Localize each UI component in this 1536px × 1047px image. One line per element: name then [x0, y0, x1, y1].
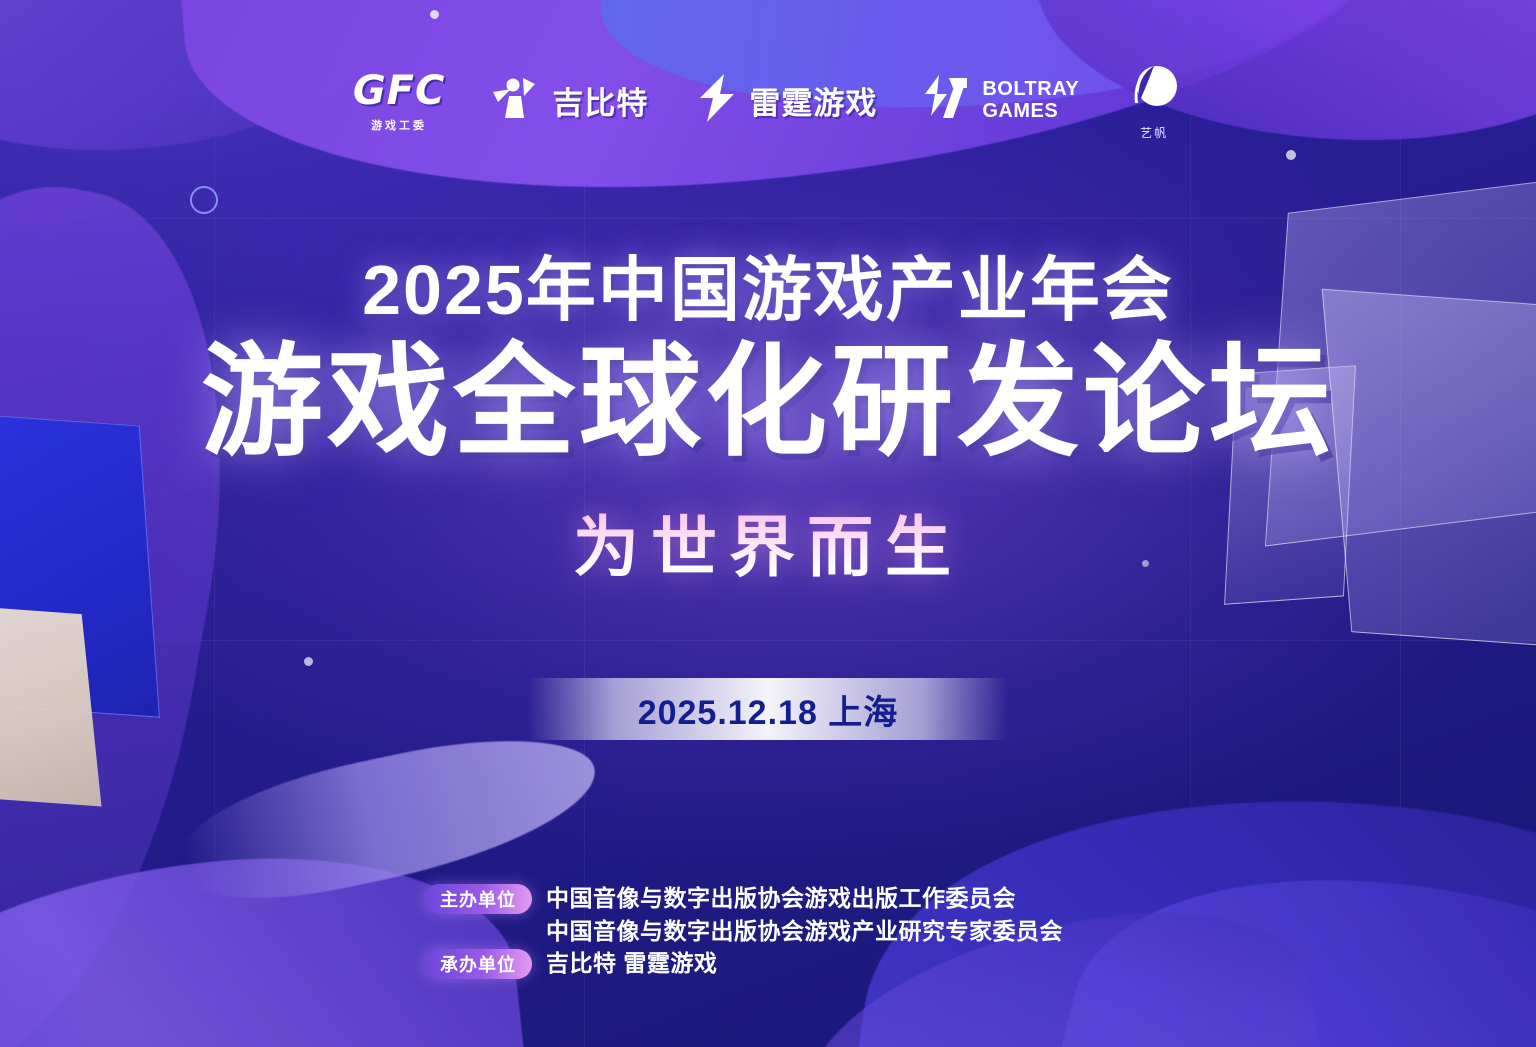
boltray-line-1: BOLTRAY	[982, 79, 1079, 100]
headline: 游戏全球化研发论坛	[0, 339, 1536, 466]
logo-yifan: 艺帆	[1125, 60, 1183, 141]
logo-gfc: GFC 游戏工委	[353, 68, 446, 133]
yifan-logo-label: 艺帆	[1140, 124, 1168, 141]
dot-icon	[304, 657, 313, 666]
lightning-bolt-icon	[694, 72, 740, 129]
logo-gbits: 吉比特	[491, 72, 648, 129]
organizer-footer: 主办单位 中国音像与数字出版协会游戏出版工作委员会 中国音像与数字出版协会游戏产…	[424, 884, 1063, 983]
boltray-logo-label: BOLTRAY GAMES	[982, 79, 1079, 121]
host-row: 主办单位 中国音像与数字出版协会游戏出版工作委员会 中国音像与数字出版协会游戏产…	[424, 884, 1063, 945]
gfc-logo-subtitle: 游戏工委	[371, 117, 427, 133]
logo-boltray: BOLTRAY GAMES	[923, 72, 1079, 129]
boltray-mark-icon	[923, 72, 973, 129]
grid-line-horizontal	[0, 640, 1536, 641]
host-badge: 主办单位	[424, 884, 532, 914]
tagline: 为世界而生	[0, 494, 1536, 590]
organizer-line: 吉比特 雷霆游戏	[546, 949, 717, 977]
dot-icon	[1286, 150, 1296, 160]
host-lines: 中国音像与数字出版协会游戏出版工作委员会 中国音像与数字出版协会游戏产业研究专家…	[546, 884, 1063, 945]
host-line-1: 中国音像与数字出版协会游戏出版工作委员会	[546, 884, 1063, 912]
date-venue-text: 2025.12.18 上海	[638, 685, 899, 734]
gfc-logo-icon: GFC	[353, 68, 446, 114]
sponsor-logo-strip: GFC 游戏工委 吉比特 雷霆游戏	[0, 60, 1536, 141]
page-title: 2025年中国游戏产业年会	[0, 255, 1536, 325]
dot-icon	[430, 10, 439, 19]
sail-moon-icon	[1125, 60, 1183, 123]
event-poster: GFC 游戏工委 吉比特 雷霆游戏	[0, 0, 1536, 1047]
gbits-logo-label: 吉比特	[552, 78, 648, 123]
date-venue-bar: 2025.12.18 上海	[528, 678, 1008, 740]
title-block: 2025年中国游戏产业年会 游戏全球化研发论坛 为世界而生	[0, 255, 1536, 590]
host-line-2: 中国音像与数字出版协会游戏产业研究专家委员会	[546, 917, 1063, 945]
organizer-row: 承办单位 吉比特 雷霆游戏	[424, 949, 1063, 979]
circle-outline-icon	[190, 186, 218, 214]
organizer-badge: 承办单位	[424, 949, 532, 979]
gbits-mark-icon	[491, 72, 543, 129]
boltray-line-2: GAMES	[982, 101, 1079, 122]
logo-leiting: 雷霆游戏	[694, 72, 877, 129]
leiting-logo-label: 雷霆游戏	[749, 78, 877, 123]
